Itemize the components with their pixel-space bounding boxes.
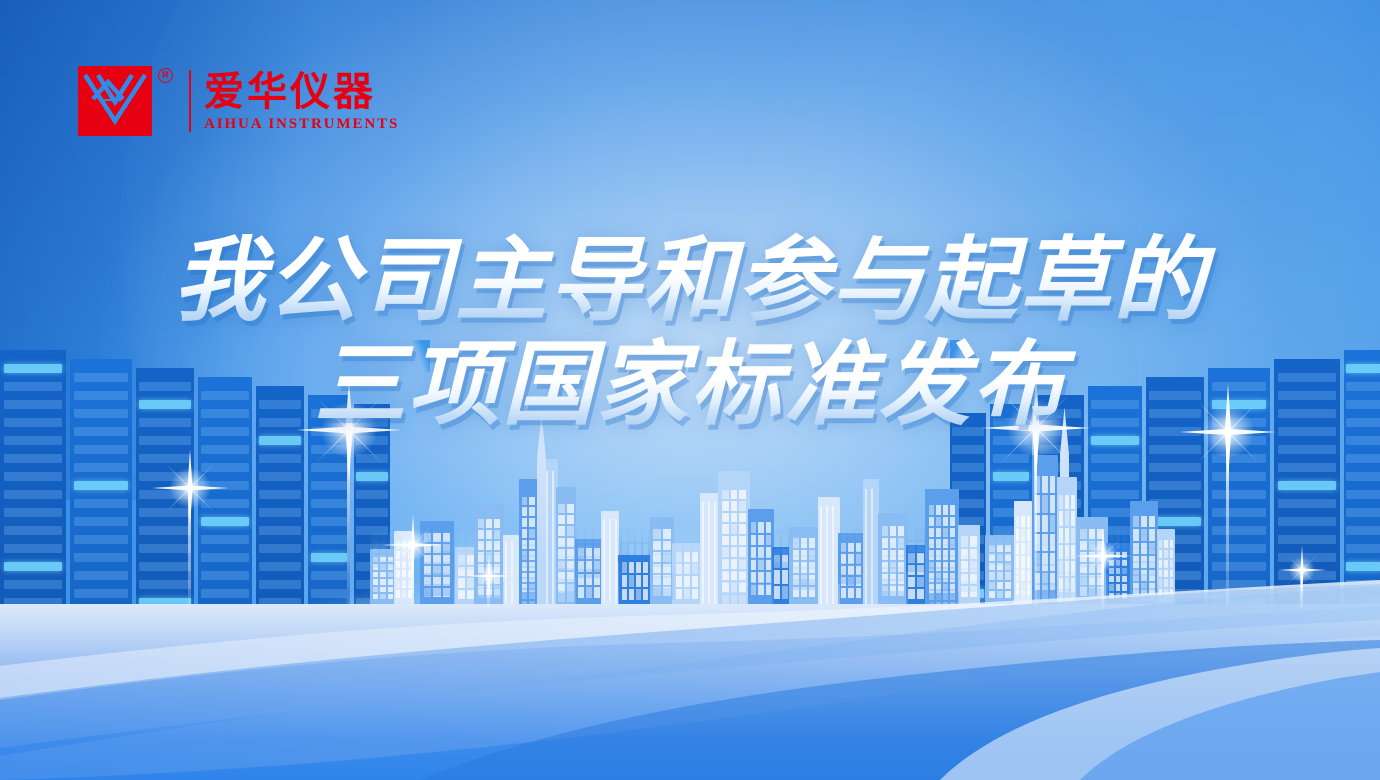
skyline-building <box>1057 512 1077 604</box>
aihua-logo-mark <box>78 66 152 136</box>
skyline-building <box>503 512 519 582</box>
lamp-pole <box>347 430 350 605</box>
building-window-stripes <box>505 512 518 576</box>
lamp-pole <box>1226 432 1229 606</box>
building-window-grid <box>1016 522 1030 601</box>
skyline-building <box>958 512 980 592</box>
building-window-grid <box>841 519 861 574</box>
title-line-2: 三项国家标准发布 <box>0 336 1380 434</box>
building-window-grid <box>622 517 648 555</box>
building-window-grid <box>908 518 923 564</box>
building-window-stripes <box>820 512 838 604</box>
reflected-skyline <box>0 512 1380 604</box>
skyline-building <box>818 512 840 604</box>
skyline-building <box>1157 512 1175 588</box>
building-window-grid <box>929 524 955 604</box>
skyline-building <box>878 512 908 604</box>
logo-divider <box>189 70 191 132</box>
skyline-building <box>925 512 959 604</box>
title-line-1: 我公司主导和参与起草的 <box>0 232 1380 330</box>
building-window-grid <box>1159 520 1173 578</box>
skyline-building <box>672 512 702 574</box>
skyline-building <box>575 512 603 578</box>
building-window-stripes <box>702 512 718 604</box>
building-window-grid <box>722 525 746 604</box>
building-window-stripes <box>865 512 878 604</box>
building-window-grid <box>396 519 411 575</box>
building-window-grid <box>578 519 599 569</box>
skyline-building <box>772 512 790 570</box>
skyline-building <box>838 512 864 584</box>
building-window-grid <box>373 518 393 561</box>
skyline-reflection <box>0 512 1380 604</box>
building-spire <box>537 512 546 604</box>
skyline-building <box>650 512 674 600</box>
company-logo[interactable]: R 爱华仪器 AIHUA INSTRUMENTS <box>78 66 399 136</box>
skyline-building <box>601 512 619 604</box>
building-window-grid <box>961 520 978 581</box>
skyline-building <box>1014 512 1032 604</box>
skyline-building <box>789 512 819 590</box>
banner-canvas: R 爱华仪器 AIHUA INSTRUMENTS 我公司主导和参与起草的 三项国… <box>0 0 1380 780</box>
skyline-building <box>370 512 396 568</box>
building-window-grid <box>793 520 816 579</box>
skyline-building <box>556 512 576 604</box>
building-window-grid <box>676 518 699 565</box>
skyline-building <box>618 512 652 562</box>
lamp-pole <box>1101 556 1104 608</box>
skyline-building <box>985 512 1015 582</box>
company-name-en: AIHUA INSTRUMENTS <box>204 116 399 133</box>
building-window-grid <box>989 519 1012 572</box>
skyline-building <box>718 512 750 604</box>
ground-plane <box>0 604 1380 780</box>
company-name-cn: 爱华仪器 <box>204 70 399 114</box>
building-window-grid <box>1035 527 1055 604</box>
building-window-grid <box>751 522 771 595</box>
lamp-pole <box>411 545 414 607</box>
skyline-building <box>863 512 879 604</box>
building-window-grid <box>558 524 573 604</box>
building-window-grid <box>424 520 450 584</box>
building-window-stripes <box>603 512 617 598</box>
registered-trademark-icon: R <box>158 68 173 83</box>
skyline-building <box>420 512 454 596</box>
building-window-grid <box>774 518 788 562</box>
skyline-building <box>748 512 774 604</box>
logo-mark-glyph <box>78 66 152 136</box>
lamp-pole <box>487 576 490 608</box>
building-window-grid <box>1059 525 1074 604</box>
building-window-grid <box>882 521 905 591</box>
skyline-building <box>906 512 926 572</box>
skyline-building <box>700 512 720 604</box>
skyline-building <box>1130 512 1158 604</box>
building-window-grid <box>458 518 475 562</box>
skyline-building <box>1106 512 1130 574</box>
building-window-grid <box>1133 522 1154 601</box>
building-window-grid <box>1109 518 1127 565</box>
lamp-pole <box>1300 570 1303 608</box>
banner-title: 我公司主导和参与起草的 三项国家标准发布 <box>0 232 1380 435</box>
lamp-pole <box>188 488 191 606</box>
lamp-pole <box>1034 428 1037 606</box>
building-window-grid <box>653 521 671 588</box>
